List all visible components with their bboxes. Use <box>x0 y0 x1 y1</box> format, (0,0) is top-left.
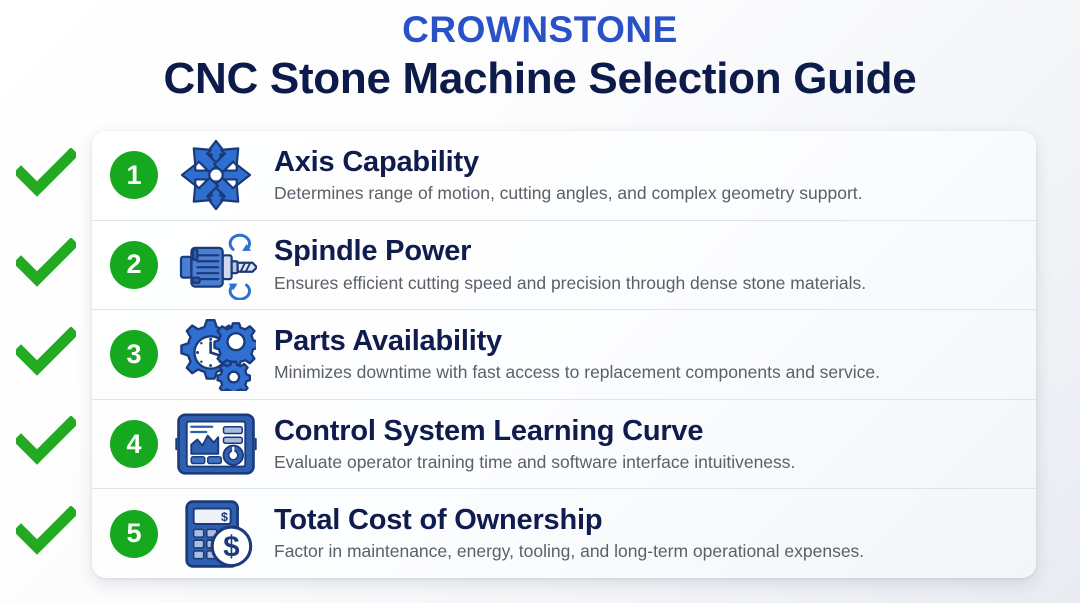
row-description: Ensures efficient cutting speed and prec… <box>274 272 1018 295</box>
svg-text:$: $ <box>221 510 228 524</box>
step-number-badge: 2 <box>110 241 158 289</box>
table-row: 4 <box>92 400 1036 490</box>
spindle-motor-icon <box>168 227 264 303</box>
green-check-icon <box>16 238 76 293</box>
table-row: 3 <box>92 310 1036 400</box>
step-number-badge: 4 <box>110 420 158 468</box>
green-check-icon <box>16 148 76 203</box>
row-description: Factor in maintenance, energy, tooling, … <box>274 540 1018 563</box>
row-text: Total Cost of Ownership Factor in mainte… <box>274 504 1036 563</box>
green-check-icon <box>16 416 76 471</box>
header: CROWNSTONE CNC Stone Machine Selection G… <box>0 0 1080 105</box>
green-check-icon <box>16 327 76 382</box>
row-title: Parts Availability <box>274 325 1018 358</box>
svg-text:$: $ <box>223 530 239 563</box>
checkmark-row-4 <box>0 399 92 488</box>
green-check-icon <box>16 506 76 561</box>
step-number-badge: 3 <box>110 330 158 378</box>
row-title: Control System Learning Curve <box>274 415 1018 448</box>
gears-clock-icon <box>168 316 264 392</box>
row-title: Axis Capability <box>274 146 1018 179</box>
control-panel-screen-icon <box>168 406 264 482</box>
row-text: Control System Learning Curve Evaluate o… <box>274 415 1036 474</box>
brand-name: CROWNSTONE <box>0 9 1080 50</box>
calculator-dollar-icon: $ $ <box>168 496 264 572</box>
multi-axis-arrows-icon <box>168 137 264 213</box>
row-title: Spindle Power <box>274 235 1018 268</box>
criteria-list-card: 1 <box>92 131 1036 578</box>
row-text: Spindle Power Ensures efficient cutting … <box>274 235 1036 294</box>
row-description: Evaluate operator training time and soft… <box>274 451 1018 474</box>
row-title: Total Cost of Ownership <box>274 504 1018 537</box>
row-text: Parts Availability Minimizes downtime wi… <box>274 325 1036 384</box>
row-text: Axis Capability Determines range of moti… <box>274 146 1036 205</box>
checkmark-row-2 <box>0 220 92 309</box>
table-row: 5 $ <box>92 489 1036 578</box>
page-title: CNC Stone Machine Selection Guide <box>0 53 1080 105</box>
step-number-badge: 5 <box>110 510 158 558</box>
table-row: 1 <box>92 131 1036 221</box>
row-description: Determines range of motion, cutting angl… <box>274 182 1018 205</box>
row-description: Minimizes downtime with fast access to r… <box>274 361 1018 384</box>
checkmark-row-3 <box>0 310 92 399</box>
infographic-root: CROWNSTONE CNC Stone Machine Selection G… <box>0 0 1080 603</box>
table-row: 2 <box>92 221 1036 311</box>
checkmark-row-5 <box>0 489 92 578</box>
checkmark-column <box>0 131 92 578</box>
checkmark-row-1 <box>0 131 92 220</box>
step-number-badge: 1 <box>110 151 158 199</box>
